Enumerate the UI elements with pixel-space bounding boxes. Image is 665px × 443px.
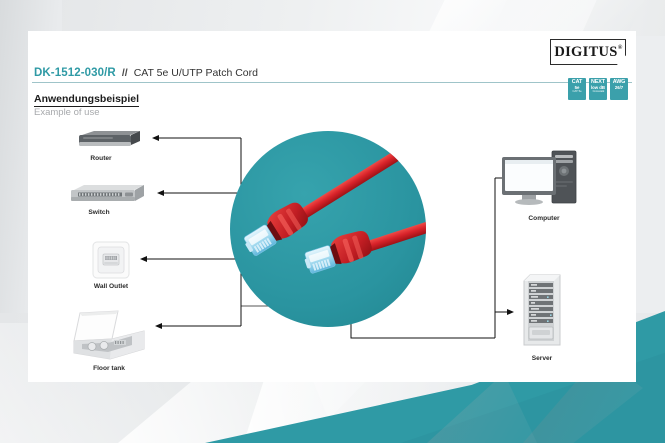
- product-header: DK-1512-030/R // CAT 5e U/UTP Patch Cord: [34, 67, 258, 79]
- device-server: [520, 271, 564, 351]
- device-switch: [68, 183, 150, 205]
- label-wall-outlet: Wall Outlet: [66, 283, 156, 290]
- content-sheet: DIGITUS® DK-1512-030/R // CAT 5e U/UTP P…: [28, 31, 636, 382]
- device-computer: [500, 149, 580, 211]
- section-heading-de: Anwendungsbeispiel: [34, 93, 139, 107]
- device-floor-tank: [70, 309, 148, 363]
- badge-line3: Crosstalk: [592, 90, 604, 93]
- header-separator: //: [122, 67, 128, 79]
- section-heading-en: Example of use: [34, 107, 99, 118]
- label-router: Router: [56, 155, 146, 162]
- device-wall-outlet: [90, 239, 132, 281]
- product-title: CAT 5e U/UTP Patch Cord: [134, 67, 258, 79]
- label-server: Server: [497, 355, 587, 362]
- label-switch: Switch: [54, 209, 144, 216]
- spec-badges: CAT 5e CAT 5e NEXT low dB Crosstalk AWG …: [568, 78, 628, 100]
- header-divider: [32, 82, 632, 83]
- badge-line3: CAT 5e: [572, 90, 581, 93]
- logo-wordmark: DIGITUS: [554, 44, 617, 60]
- registered-trademark-icon: ®: [618, 45, 623, 51]
- badge-awg: AWG 26/7: [610, 78, 628, 100]
- label-floor-tank: Floor tank: [64, 365, 154, 372]
- badge-cat5e: CAT 5e CAT 5e: [568, 78, 586, 100]
- datasheet-page: DIGITUS® DK-1512-030/R // CAT 5e U/UTP P…: [0, 0, 665, 443]
- device-router: [74, 129, 146, 151]
- digitus-logo: DIGITUS®: [550, 39, 626, 65]
- product-sku: DK-1512-030/R: [34, 67, 116, 79]
- label-computer: Computer: [499, 215, 589, 222]
- badge-next: NEXT low dB Crosstalk: [589, 78, 607, 100]
- application-diagram: Router: [28, 123, 636, 381]
- patch-cord-product-image: [230, 131, 426, 327]
- badge-line2: 26/7: [615, 86, 623, 91]
